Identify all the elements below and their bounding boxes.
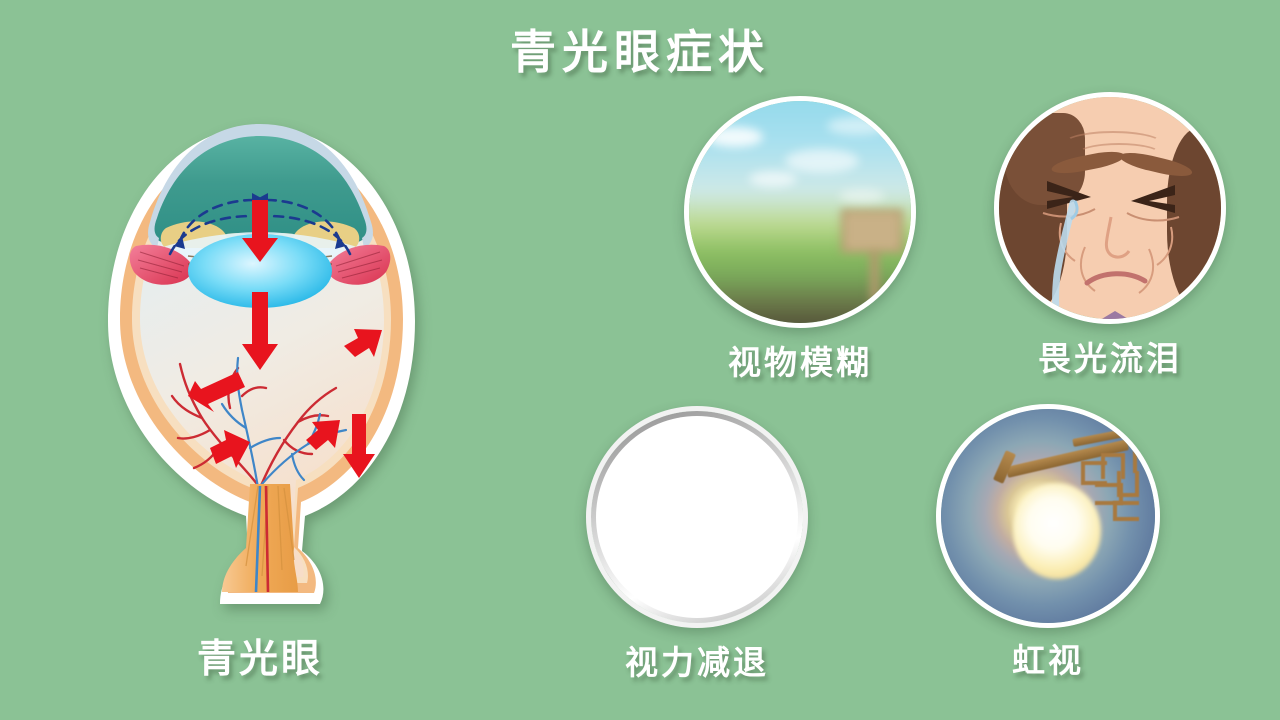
lamp-globe [1013,483,1101,579]
eye-chart-char: E [736,566,749,588]
diagram-caption: 青光眼 [70,628,450,684]
symptom-circle-blurred-vision[interactable] [684,96,916,328]
symptom-label-blurred-vision: 视物模糊 [670,336,930,384]
symptom-circle-halo-vision[interactable] [936,404,1160,628]
eye-chart-char: E [776,446,789,476]
eye-chart-char: ⬛ [605,509,635,533]
symptom-label-declining-vision: 视力减退 [567,636,827,684]
eye-chart-char: ⬛ [686,509,716,533]
glaucoma-eye-diagram [70,96,450,606]
blurred-eye-chart-icon: M M E E ⬛ ⬛ ⬛ ⬛ ⬛ E E E E E [591,411,803,623]
eye-chart-char: E [605,566,618,588]
page-title: 青光眼症状 [0,16,1280,82]
infographic-canvas: 青光眼症状 [0,0,1280,720]
landscape-details [689,101,911,323]
eye-chart-char: ⬛ [767,509,789,533]
eye-chart-char: ⬛ [645,509,675,533]
eye-chart-grid: M M E E ⬛ ⬛ ⬛ ⬛ ⬛ E E E E E [605,429,789,605]
eye-chart-row: ⬛ ⬛ ⬛ ⬛ ⬛ [605,509,789,533]
symptom-circle-declining-vision[interactable]: M M E E ⬛ ⬛ ⬛ ⬛ ⬛ E E E E E [586,406,808,628]
symptom-circle-photophobia[interactable] [994,92,1226,324]
eye-chart-char: E [692,566,705,588]
eye-chart-char: ⬛ [726,509,756,533]
symptom-label-photophobia: 畏光流泪 [980,332,1240,380]
eye-chart-char: M [605,446,623,476]
eye-chart-char: M [662,446,680,476]
crying-face-icon [999,97,1221,319]
eye-chart-row: M M E E [605,446,789,476]
eye-chart-row: E E E E E [605,566,789,588]
rainbow-halo-icon [941,409,1155,623]
eye-chart-char: E [649,566,662,588]
symptom-label-halo-vision: 虹视 [948,634,1148,682]
eye-chart-char: E [719,446,737,476]
squinting-eyes [999,97,1226,324]
eye-chart-char: E [779,566,789,588]
